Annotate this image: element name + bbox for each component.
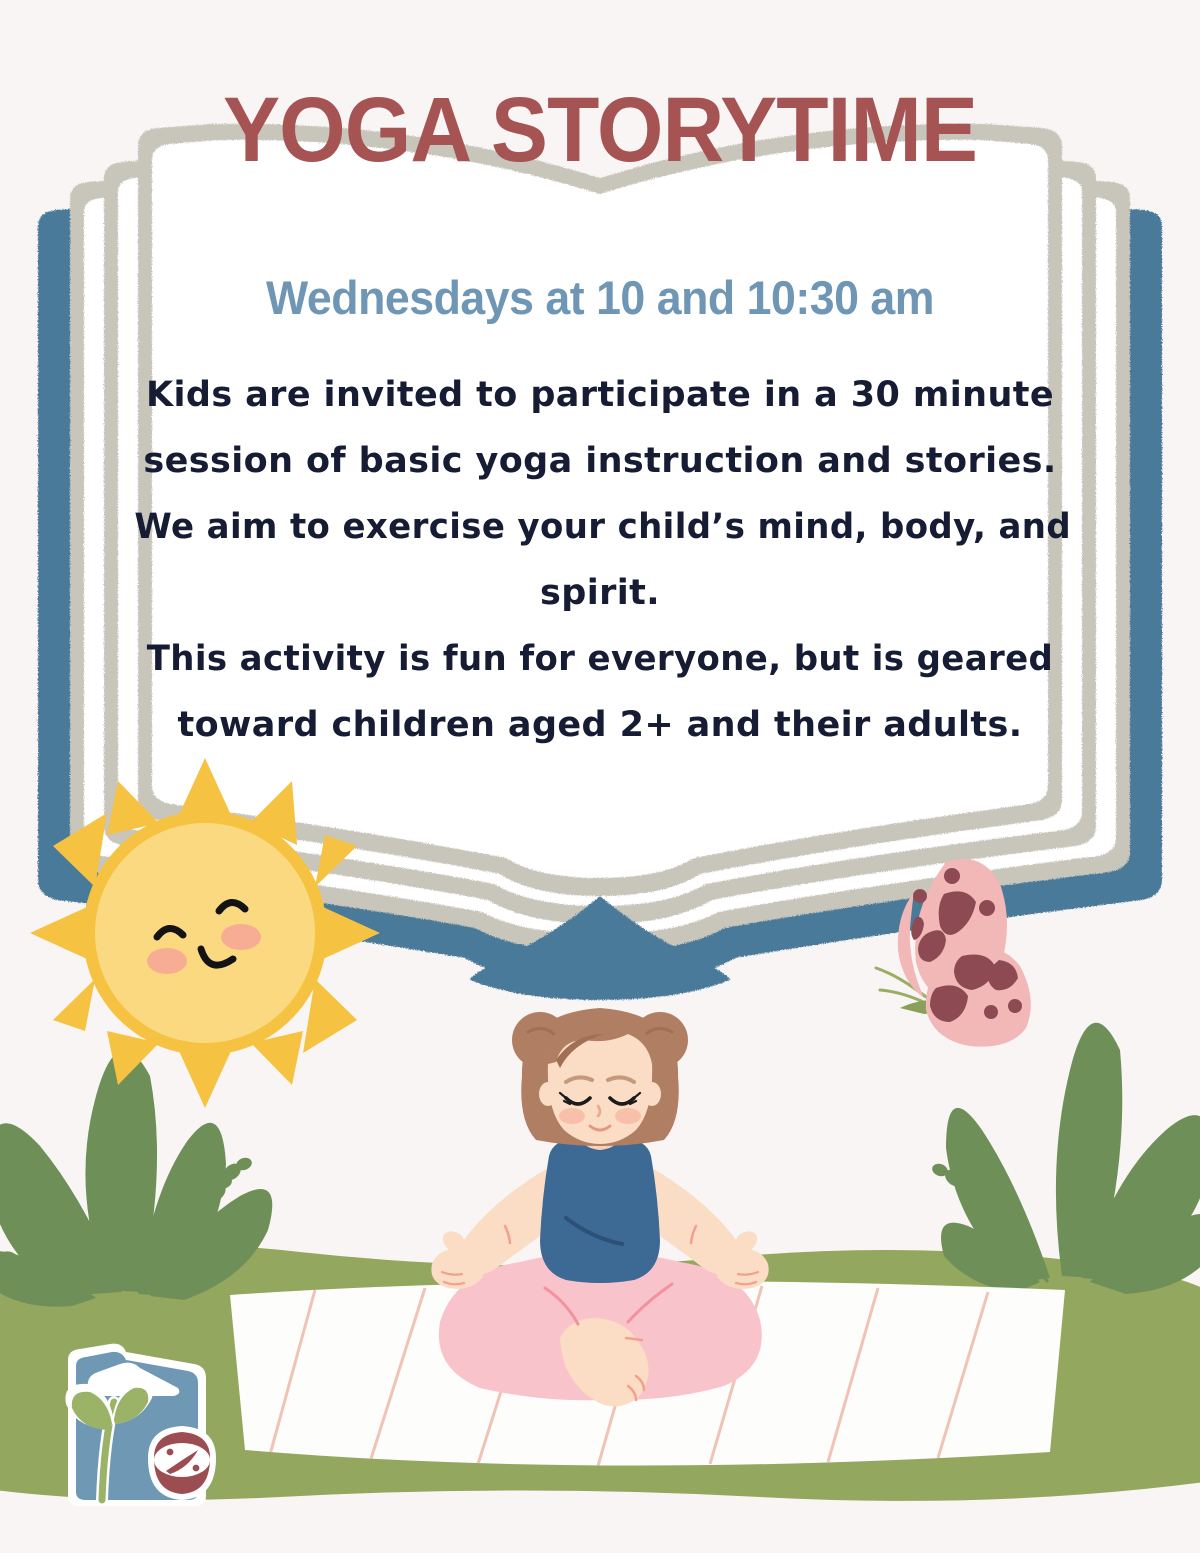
description-line-3: We aim to exercise your child’s mind, bo… [134, 494, 1065, 560]
child-cheek-left [559, 1108, 585, 1124]
description-line-1: Kids are invited to participate in a 30 … [120, 362, 1080, 428]
schedule-subtitle: Wednesdays at 10 and 10:30 am [144, 272, 1056, 324]
child-ear-left [539, 1082, 557, 1106]
description-line-6: toward children aged 2+ and their adults… [120, 692, 1080, 758]
description-text: Kids are invited to participate in a 30 … [120, 362, 1080, 758]
description-line-4: spirit. [120, 560, 1080, 626]
child-cheek-right [615, 1108, 641, 1124]
child-shirt [540, 1136, 660, 1284]
description-line-5: This activity is fun for everyone, but i… [134, 626, 1065, 692]
logo-compass-dot-1 [167, 1449, 174, 1456]
logo-compass-face [154, 1443, 210, 1477]
logo-compass-dot-2 [193, 1465, 200, 1472]
description-line-2: session of basic yoga instruction and st… [120, 428, 1080, 494]
poster-illustration [0, 0, 1200, 1553]
sun-cheek-left [147, 948, 187, 974]
poster: YOGA STORYTIME Wednesdays at 10 and 10:3… [0, 0, 1200, 1553]
page-title: YOGA STORYTIME [42, 84, 1158, 176]
sun-face [95, 823, 315, 1043]
library-logo [65, 1344, 216, 1506]
sun-cheek-right [221, 924, 261, 950]
child-ear-right [643, 1082, 661, 1106]
